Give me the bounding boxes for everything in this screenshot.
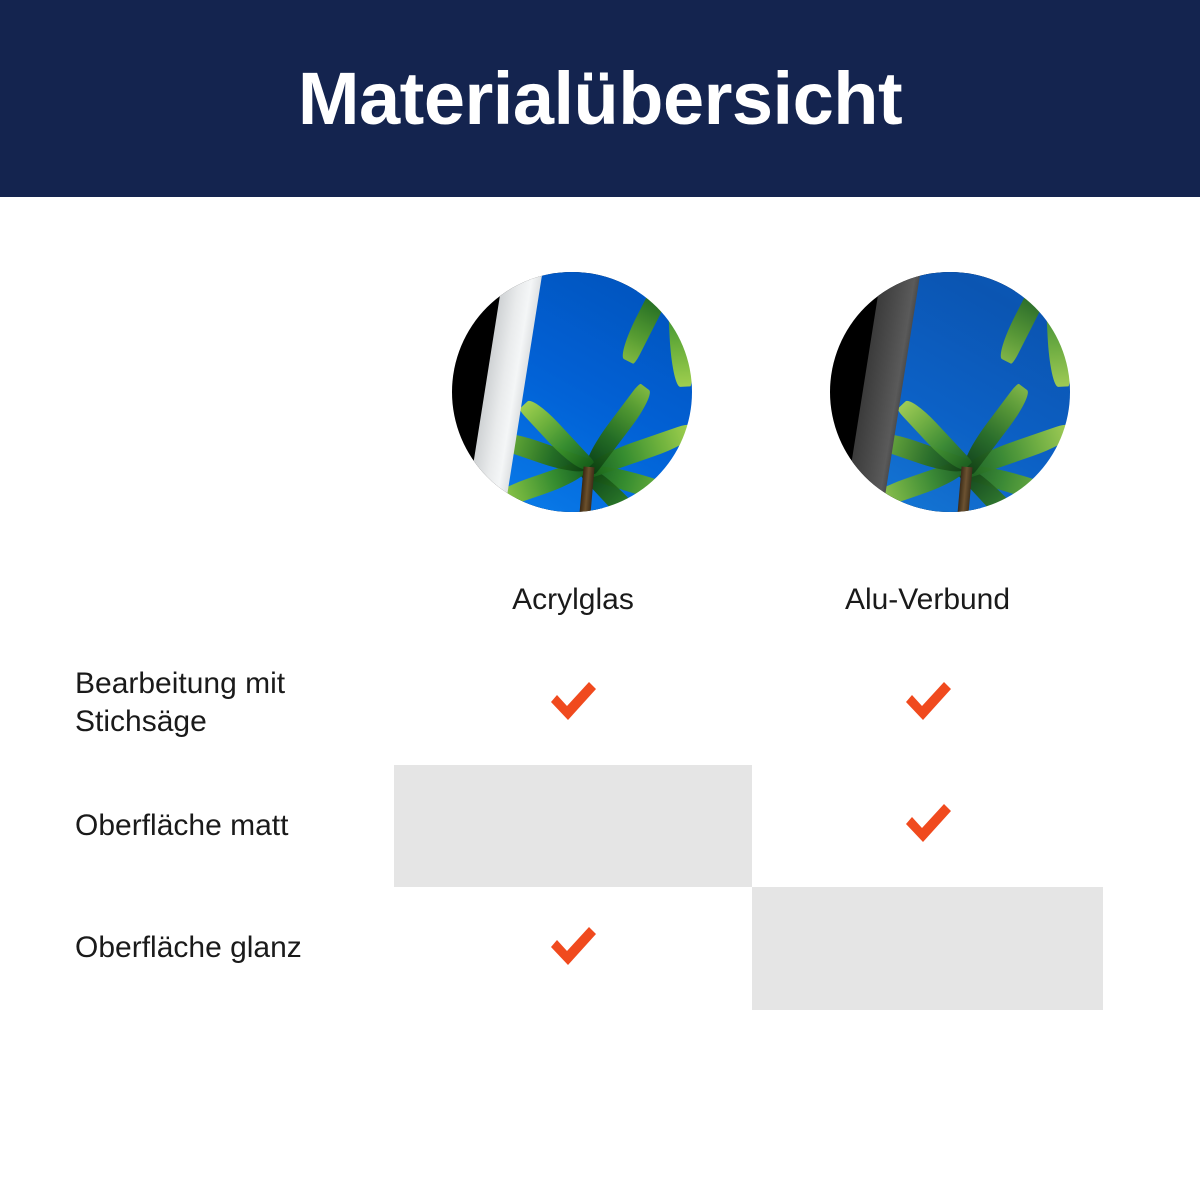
row-label-oberflaeche-glanz: Oberfläche glanz [75, 887, 394, 1010]
column-header-alu-verbund: Alu-Verbund [752, 558, 1103, 642]
row-label-oberflaeche-matt: Oberfläche matt [75, 765, 394, 888]
row-label-line2: Stichsäge [75, 705, 207, 738]
table-row: Oberfläche glanz [75, 887, 1103, 1010]
check-icon [902, 680, 954, 722]
row-label-bearbeitung-stichsaege: Bearbeitung mit Stichsäge [75, 642, 394, 765]
cell-glanz-alu-verbund [752, 887, 1103, 1010]
column-header-acrylglas: Acrylglas [394, 558, 752, 642]
row-label-line1: Oberfläche glanz [75, 931, 302, 964]
acrylglas-panel-scene [452, 272, 692, 512]
table-row: Bearbeitung mit Stichsäge [75, 642, 1103, 765]
row-label-line1: Oberfläche matt [75, 809, 288, 842]
material-samples [0, 272, 1200, 512]
row-label-line1: Bearbeitung mit [75, 667, 285, 700]
material-comparison-table: Acrylglas Alu-Verbund Bearbeitung mit St… [75, 558, 1103, 1010]
page-header: Materialübersicht [0, 0, 1200, 197]
cell-matt-acrylglas [394, 765, 752, 888]
page-title: Materialübersicht [298, 62, 902, 136]
check-icon [547, 680, 599, 722]
alu-verbund-sample-image [830, 272, 1070, 512]
check-icon [547, 925, 599, 967]
acrylglas-sample-image [452, 272, 692, 512]
table-row: Oberfläche matt [75, 765, 1103, 888]
cell-matt-alu-verbund [752, 765, 1103, 888]
cell-bearbeitung-alu-verbund [752, 642, 1103, 765]
table-header-row: Acrylglas Alu-Verbund [75, 558, 1103, 642]
alu-verbund-panel-scene [830, 272, 1070, 512]
check-icon [902, 802, 954, 844]
material-overview-page: Materialübersicht [0, 0, 1200, 1200]
cell-bearbeitung-acrylglas [394, 642, 752, 765]
column-header-blank [75, 558, 394, 642]
cell-glanz-acrylglas [394, 887, 752, 1010]
